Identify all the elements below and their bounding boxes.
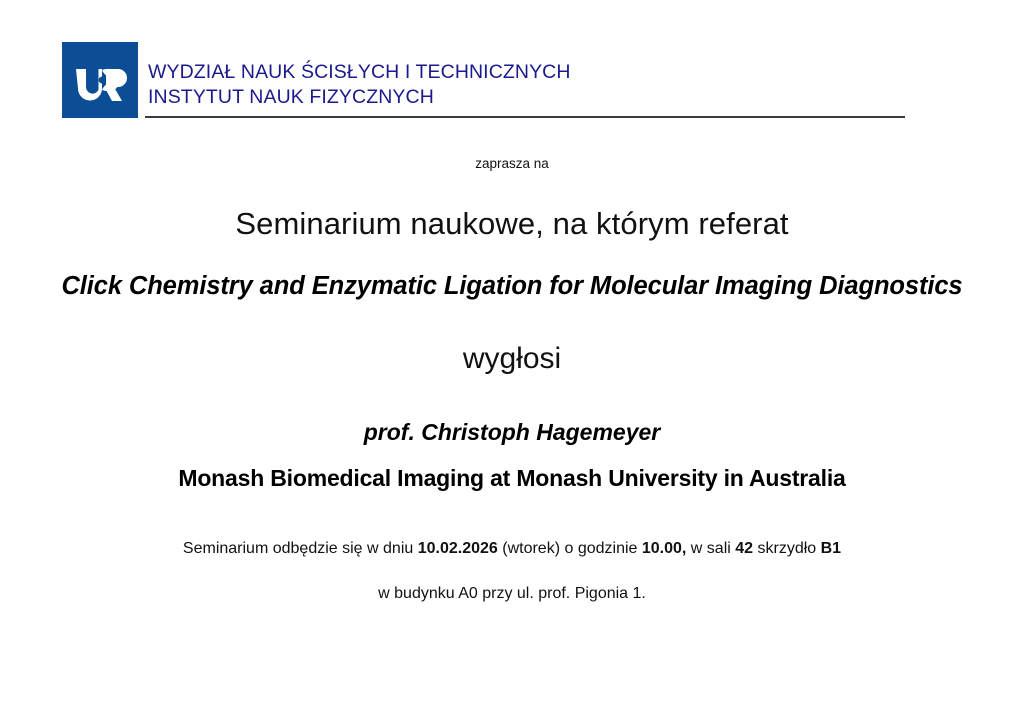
event-date: 10.02.2026 [418, 540, 498, 557]
invitation-text: zaprasza na [0, 156, 1024, 171]
lecture-title: Click Chemistry and Enzymatic Ligation f… [0, 272, 1024, 301]
speaker-affiliation: Monash Biomedical Imaging at Monash Univ… [0, 465, 1024, 492]
presented-by-label: wygłosi [0, 342, 1024, 376]
ur-university-logo-icon [62, 42, 138, 118]
institute-name: INSTYTUT NAUK FIZYCZNYCH [148, 85, 908, 110]
header-divider-rule [145, 116, 905, 118]
event-building-line: w budynku A0 przy ul. prof. Pigonia 1. [0, 585, 1024, 603]
event-datetime-line: Seminarium odbędzie się w dniu 10.02.202… [0, 540, 1024, 558]
event-time: 10.00, [642, 540, 686, 557]
header-text-block: WYDZIAŁ NAUK ŚCISŁYCH I TECHNICZNYCH INS… [148, 60, 908, 110]
event-wing: B1 [821, 540, 841, 557]
seminar-announcement-poster: WYDZIAŁ NAUK ŚCISŁYCH I TECHNICZNYCH INS… [0, 0, 1024, 726]
wing-prefix: skrzydło [753, 540, 821, 557]
seminar-heading: Seminarium naukowe, na którym referat [0, 206, 1024, 242]
room-prefix: w sali [686, 540, 735, 557]
faculty-name: WYDZIAŁ NAUK ŚCISŁYCH I TECHNICZNYCH [148, 60, 908, 85]
speaker-name: prof. Christoph Hagemeyer [0, 419, 1024, 446]
document-header: WYDZIAŁ NAUK ŚCISŁYCH I TECHNICZNYCH INS… [0, 0, 1024, 132]
datetime-prefix: Seminarium odbędzie się w dniu [183, 540, 418, 557]
event-weekday: (wtorek) o godzinie [498, 540, 642, 557]
event-room: 42 [735, 540, 753, 557]
